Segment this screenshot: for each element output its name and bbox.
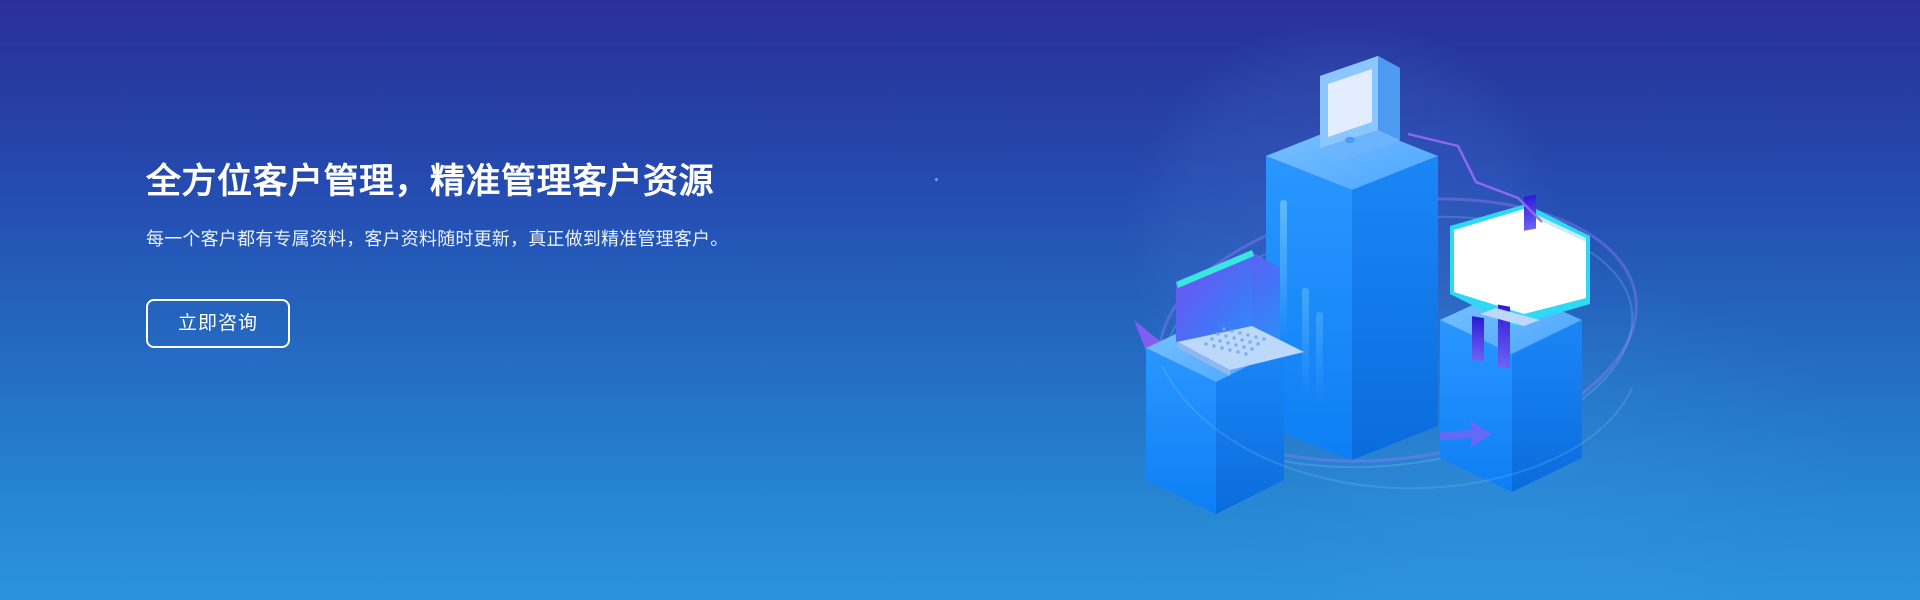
consult-now-button[interactable]: 立即咨询: [146, 299, 290, 348]
hero-copy-block: 全方位客户管理，精准管理客户资源 每一个客户都有专属资料，客户资料随时更新，真正…: [146, 160, 806, 348]
hero-illustration: [1120, 30, 1680, 580]
hero-banner: 全方位客户管理，精准管理客户资源 每一个客户都有专属资料，客户资料随时更新，真正…: [0, 0, 1920, 600]
center-pedestal: [1266, 122, 1438, 460]
page-title: 全方位客户管理，精准管理客户资源: [146, 160, 806, 204]
background-speck: [935, 178, 938, 181]
hero-subtitle: 每一个客户都有专属资料，客户资料随时更新，真正做到精准管理客户。: [146, 226, 746, 254]
